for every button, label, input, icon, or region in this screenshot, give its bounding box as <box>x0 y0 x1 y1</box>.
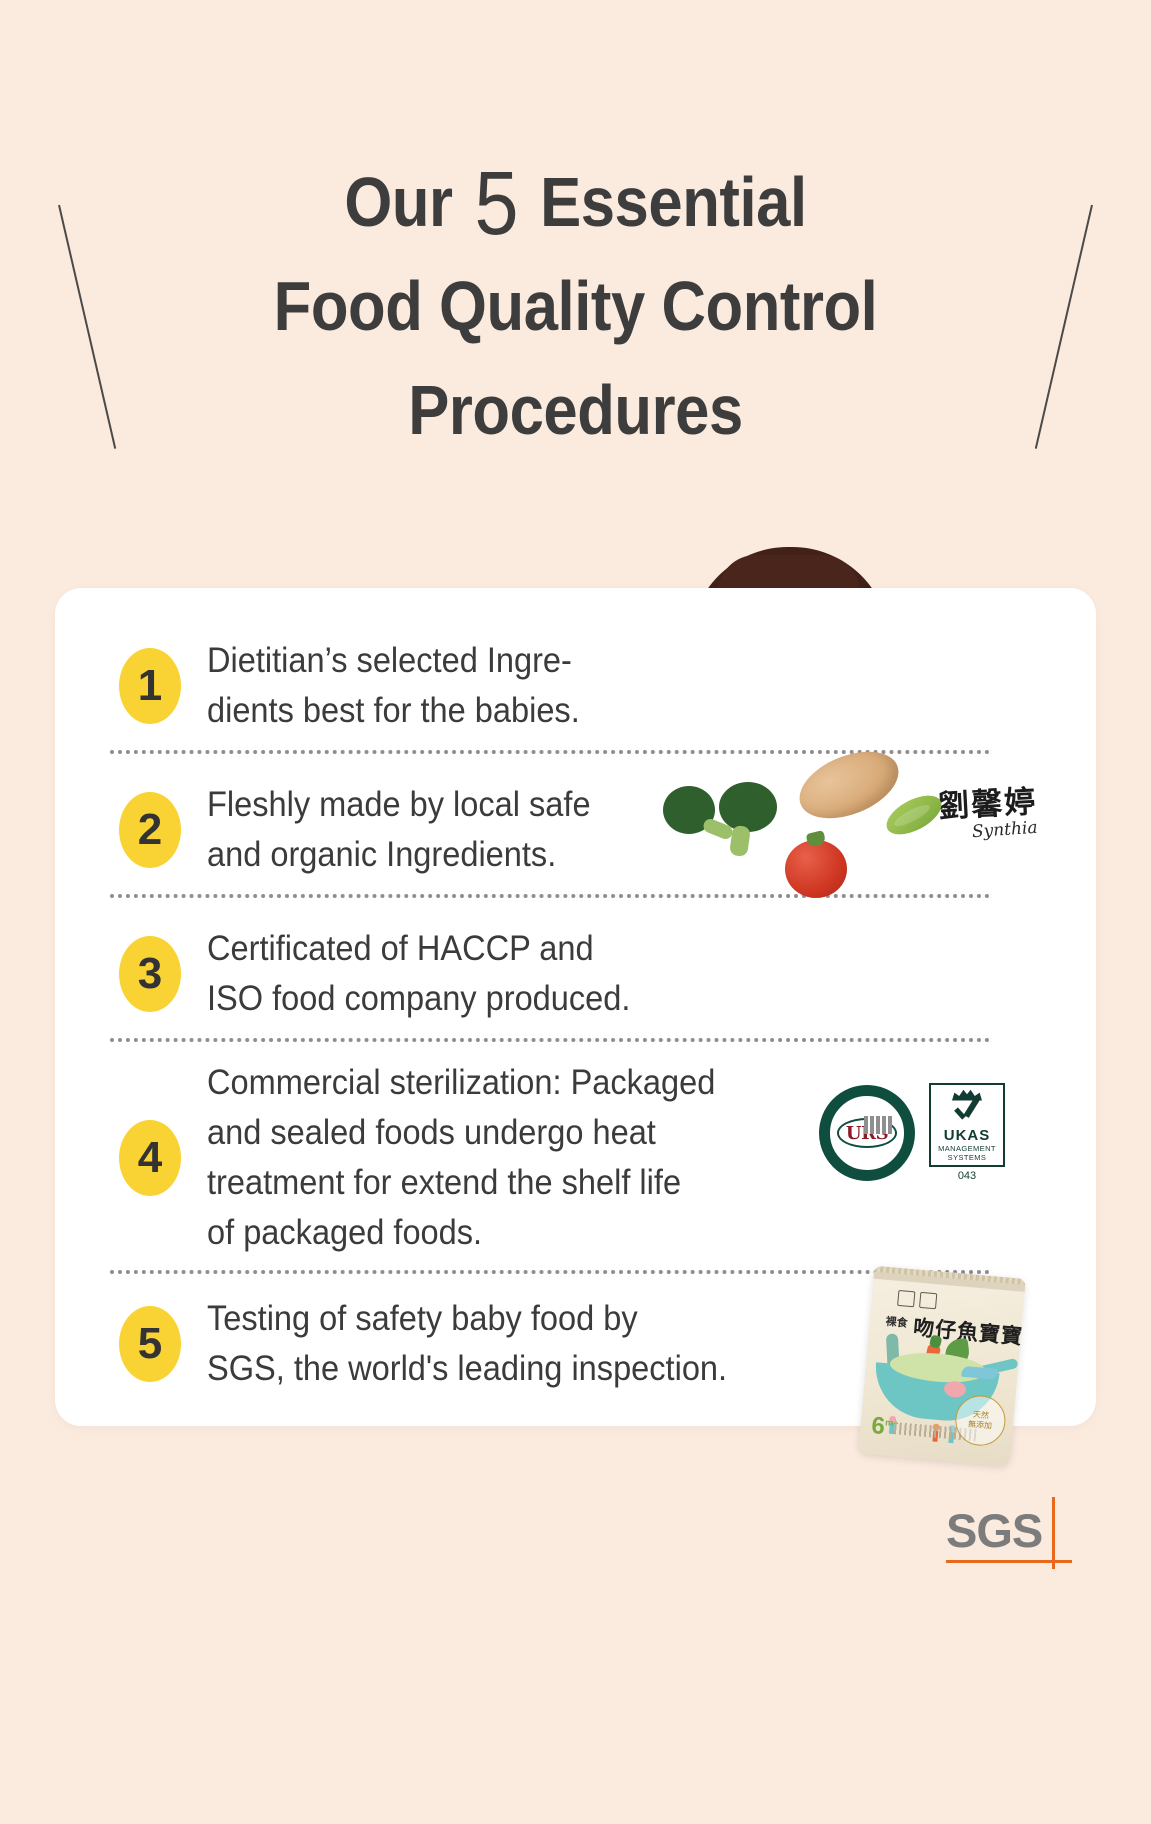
text-line: Commercial sterilization: Packaged <box>207 1058 715 1108</box>
text-line: dients best for the babies. <box>207 686 580 736</box>
pouch-brand-text: 裸食 <box>885 1313 908 1331</box>
list-item-text: Dietitian’s selected Ingre- dients best … <box>207 636 580 736</box>
broccoli-stem <box>729 825 751 857</box>
text-line: of packaged foods. <box>207 1208 715 1258</box>
text-line: Certificated of HACCP and <box>207 924 630 974</box>
brand-mark-icon <box>919 1292 937 1309</box>
product-pouch-image: 裸食 吻仔魚寶寶粥 6m+ 天然 無添加 <box>858 1266 1026 1467</box>
title-line-2: Food Quality Control <box>69 254 1082 358</box>
urs-building-mark <box>864 1116 892 1134</box>
sgs-logo: SGS <box>946 1497 1066 1575</box>
text-line: and organic Ingredients. <box>207 830 591 880</box>
ukas-code: 043 <box>929 1170 1005 1182</box>
brand-mark-icon <box>897 1290 915 1307</box>
title-line-1: Our 5 Essential <box>69 150 1082 254</box>
text-line: Testing of safety baby food by <box>207 1294 727 1344</box>
infographic-page: Our 5 Essential Food Quality Control Pro… <box>0 0 1151 1824</box>
list-item: 1 Dietitian’s selected Ingre- dients bes… <box>55 636 1096 736</box>
signature-chinese: 劉馨婷 <box>937 775 1059 826</box>
step-badge: 5 <box>119 1306 181 1382</box>
text-line: Fleshly made by local safe <box>207 780 591 830</box>
text-line: and sealed foods undergo heat <box>207 1108 715 1158</box>
ukas-subtitle-2: SYSTEMS <box>948 1153 987 1162</box>
checkmark-icon <box>952 1103 982 1127</box>
ukas-wordmark: UKAS <box>944 1127 991 1144</box>
step-badge: 1 <box>119 648 181 724</box>
step-badge: 3 <box>119 936 181 1012</box>
title-number-five: 5 <box>469 154 523 254</box>
pouch-brand-marks <box>897 1290 938 1307</box>
text-line: Dietitian’s selected Ingre- <box>207 636 580 686</box>
step-badge: 2 <box>119 792 181 868</box>
badge-line-2: 無添加 <box>968 1420 993 1432</box>
page-title: Our 5 Essential Food Quality Control Pro… <box>0 150 1151 462</box>
sgs-horizontal-rule <box>946 1560 1072 1563</box>
list-item-text: Certificated of HACCP and ISO food compa… <box>207 924 630 1024</box>
list-item-text: Commercial sterilization: Packaged and s… <box>207 1058 715 1258</box>
divider <box>110 1038 990 1042</box>
urs-certification-logo: URS <box>819 1085 915 1181</box>
sgs-wordmark: SGS <box>946 1503 1042 1558</box>
step-badge: 4 <box>119 1120 181 1196</box>
list-item-text: Testing of safety baby food by SGS, the … <box>207 1294 727 1394</box>
sgs-vertical-rule <box>1052 1497 1055 1569</box>
text-line: ISO food company produced. <box>207 974 630 1024</box>
divider <box>110 1270 990 1274</box>
divider <box>110 894 990 898</box>
title-word-essential: Essential <box>540 163 807 241</box>
ukas-subtitle-1: MANAGEMENT <box>938 1144 996 1153</box>
text-line: treatment for extend the shelf life <box>207 1158 715 1208</box>
tomato-icon <box>785 840 847 898</box>
title-word-our: Our <box>344 163 452 241</box>
title-line-3: Procedures <box>69 358 1082 462</box>
broccoli-icon <box>663 782 787 878</box>
list-item-text: Fleshly made by local safe and organic I… <box>207 780 591 880</box>
ukas-certification-logo: UKAS MANAGEMENT SYSTEMS <box>929 1083 1005 1167</box>
list-item: 3 Certificated of HACCP and ISO food com… <box>55 924 1096 1024</box>
text-line: SGS, the world's leading inspection. <box>207 1344 727 1394</box>
